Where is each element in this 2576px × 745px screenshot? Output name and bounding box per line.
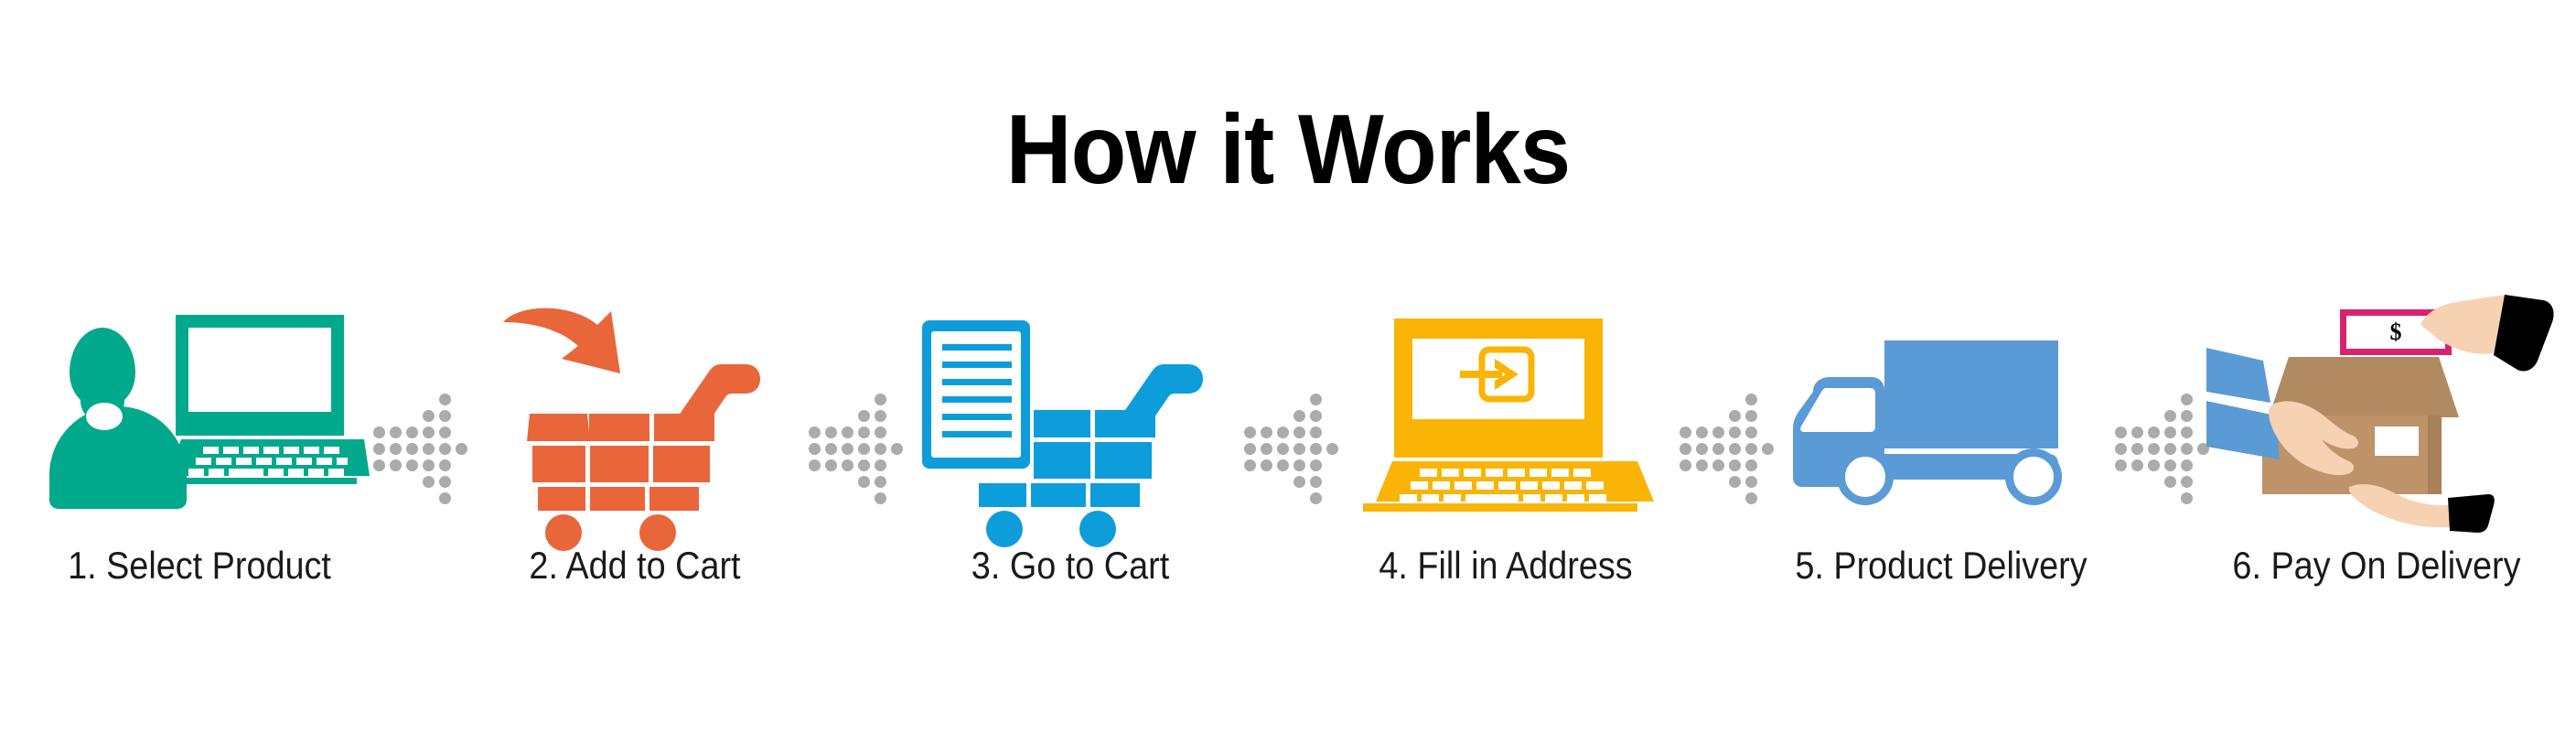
- dotted-arrow-5: [2115, 302, 2203, 632]
- step-3-label: 3. Go to Cart: [914, 545, 1227, 587]
- step-2-add-to-cart[interactable]: 2. Add to Cart: [461, 302, 809, 632]
- dotted-arrow-4: [1680, 302, 1767, 632]
- step-1-select-product[interactable]: 1. Select Product: [26, 302, 373, 632]
- delivery-truck-icon: [1767, 302, 2115, 531]
- step-5-label: 5. Product Delivery: [1785, 545, 2098, 587]
- step-1-label: 1. Select Product: [43, 545, 356, 587]
- hands-exchanging-box-and-cash-icon: $: [2203, 302, 2550, 531]
- step-3-go-to-cart[interactable]: 3. Go to Cart: [896, 302, 1244, 632]
- laptop-with-login-arrow-icon: [1332, 302, 1680, 531]
- step-4-fill-in-address[interactable]: 4. Fill in Address: [1332, 302, 1680, 632]
- dotted-arrow-1: [373, 302, 461, 632]
- shopping-cart-with-down-arrow-icon: [461, 302, 809, 531]
- dotted-arrow-2: [809, 302, 896, 632]
- steps-row: 1. Select Product: [0, 302, 2576, 632]
- step-6-pay-on-delivery[interactable]: $: [2203, 302, 2550, 632]
- step-2-label: 2. Add to Cart: [478, 545, 791, 587]
- infographic-page: How it Works: [0, 0, 2576, 745]
- page-title: How it Works: [103, 99, 2474, 200]
- person-with-laptop-icon: [26, 302, 373, 531]
- step-4-label: 4. Fill in Address: [1349, 545, 1662, 587]
- document-with-shopping-cart-icon: [896, 302, 1244, 531]
- step-6-label: 6. Pay On Delivery: [2220, 545, 2533, 587]
- dotted-arrow-3: [1244, 302, 1332, 632]
- step-5-product-delivery[interactable]: 5. Product Delivery: [1767, 302, 2115, 632]
